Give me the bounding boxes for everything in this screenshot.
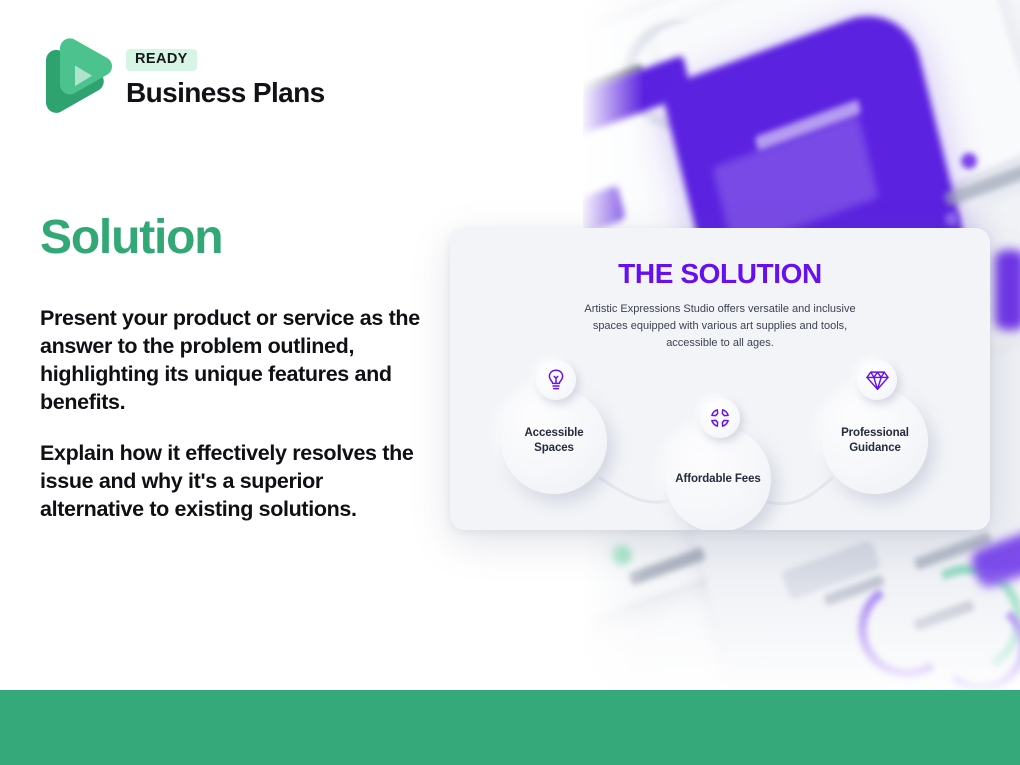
ready-badge: READY (126, 49, 197, 71)
feature-bubble-professional-guidance[interactable]: Professional Guidance (822, 388, 928, 494)
footer-band (0, 690, 1020, 765)
solution-preview-card: THE SOLUTION Artistic Expressions Studio… (450, 228, 990, 530)
body-copy: Present your product or service as the a… (40, 305, 430, 524)
card-title: THE SOLUTION (450, 260, 990, 288)
background-green-dot (611, 545, 631, 565)
card-subtitle: Artistic Expressions Studio offers versa… (570, 301, 870, 352)
slide-canvas: READY Business Plans Solution Present yo… (0, 0, 1020, 765)
background-purple-dot (945, 212, 959, 226)
diamond-icon (857, 360, 897, 400)
body-paragraph-2: Explain how it effectively resolves the … (40, 440, 430, 524)
body-paragraph-1: Present your product or service as the a… (40, 305, 430, 417)
background-purple-edge (995, 250, 1020, 330)
lightbulb-icon (536, 360, 576, 400)
feature-bubble-group: Accessible Spaces Affordable Fees (450, 366, 990, 530)
double-play-triangle-logo-icon (40, 38, 112, 116)
feature-label: Accessible Spaces (501, 426, 607, 455)
feature-label: Affordable Fees (665, 472, 770, 487)
feature-bubble-accessible-spaces[interactable]: Accessible Spaces (501, 388, 607, 494)
brand-name: Business Plans (126, 78, 325, 107)
brand-lockup: READY Business Plans (40, 38, 325, 116)
feature-label: Professional Guidance (822, 426, 928, 455)
background-purple-dot (961, 153, 977, 169)
page-title: Solution (40, 214, 222, 262)
lifebuoy-icon (700, 398, 740, 438)
feature-bubble-affordable-fees[interactable]: Affordable Fees (665, 426, 771, 530)
